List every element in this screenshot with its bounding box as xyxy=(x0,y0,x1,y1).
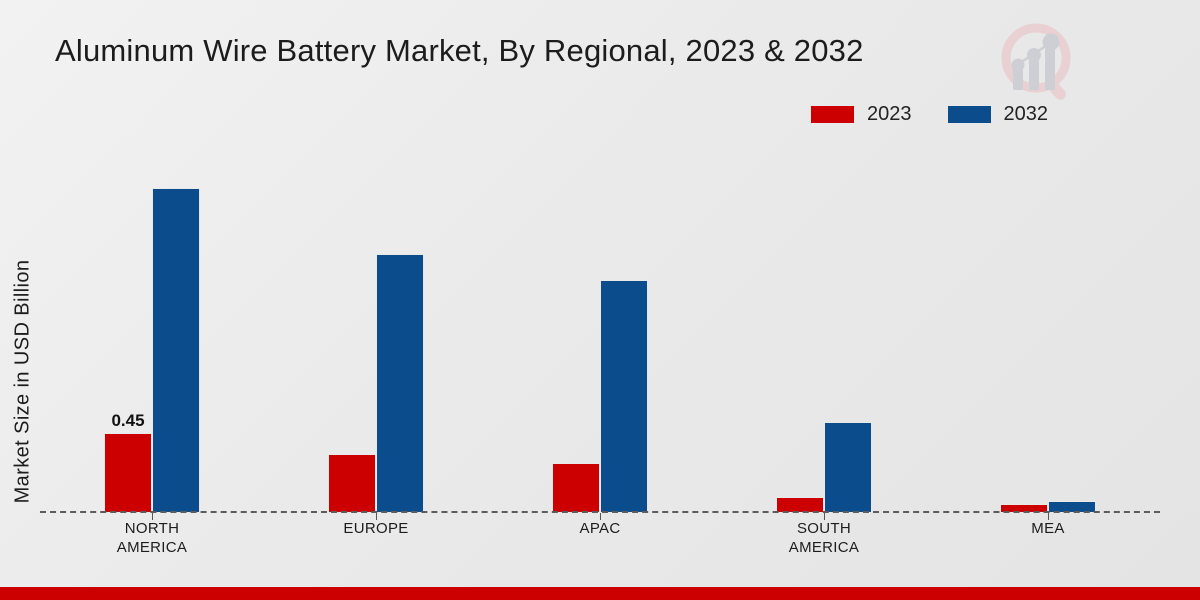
bar-2023-north-america[interactable]: 0.45 xyxy=(104,433,152,513)
x-axis-label-europe: EUROPE xyxy=(264,519,488,569)
magnifier-bar-chart-logo-watermark xyxy=(988,12,1092,108)
bar-group xyxy=(712,140,936,513)
bar-2032-apac[interactable] xyxy=(600,280,648,513)
x-axis-labels: NORTHAMERICAEUROPEAPACSOUTHAMERICAMEA xyxy=(40,519,1160,569)
legend-item-2032[interactable]: 2032 xyxy=(948,103,1049,126)
legend-swatch-2032 xyxy=(948,106,991,123)
bar-pair xyxy=(1000,140,1096,513)
x-axis-baseline xyxy=(40,511,1160,513)
x-axis-label-apac: APAC xyxy=(488,519,712,569)
bar-group xyxy=(936,140,1160,513)
chart-title: Aluminum Wire Battery Market, By Regiona… xyxy=(55,33,864,69)
x-axis-label-mea: MEA xyxy=(936,519,1160,569)
bar-pair xyxy=(552,140,648,513)
chart-figure: Aluminum Wire Battery Market, By Regiona… xyxy=(0,0,1200,600)
bar-2032-europe[interactable] xyxy=(376,254,424,513)
bar-group: 0.45 xyxy=(40,140,264,513)
legend-label-2023: 2023 xyxy=(867,103,912,126)
bar-2032-north-america[interactable] xyxy=(152,188,200,513)
bar-group xyxy=(488,140,712,513)
bottom-banner xyxy=(0,587,1200,600)
bar-2032-south-america[interactable] xyxy=(824,422,872,513)
bar-pair xyxy=(328,140,424,513)
bar-2023-europe[interactable] xyxy=(328,454,376,513)
plot-area: 0.45 xyxy=(40,140,1160,513)
bar-value-label: 0.45 xyxy=(111,411,144,431)
bar-groups: 0.45 xyxy=(40,140,1160,513)
bar-pair xyxy=(776,140,872,513)
x-axis-label-north-america: NORTHAMERICA xyxy=(40,519,264,569)
bar-group xyxy=(264,140,488,513)
legend-item-2023[interactable]: 2023 xyxy=(811,103,912,126)
legend-label-2032: 2032 xyxy=(1004,103,1049,126)
y-axis-title: Market Size in USD Billion xyxy=(12,217,35,547)
bar-2023-apac[interactable] xyxy=(552,463,600,513)
bar-pair: 0.45 xyxy=(104,140,200,513)
legend-swatch-2023 xyxy=(811,106,854,123)
chart-legend: 2023 2032 xyxy=(811,103,1048,126)
x-axis-label-south-america: SOUTHAMERICA xyxy=(712,519,936,569)
